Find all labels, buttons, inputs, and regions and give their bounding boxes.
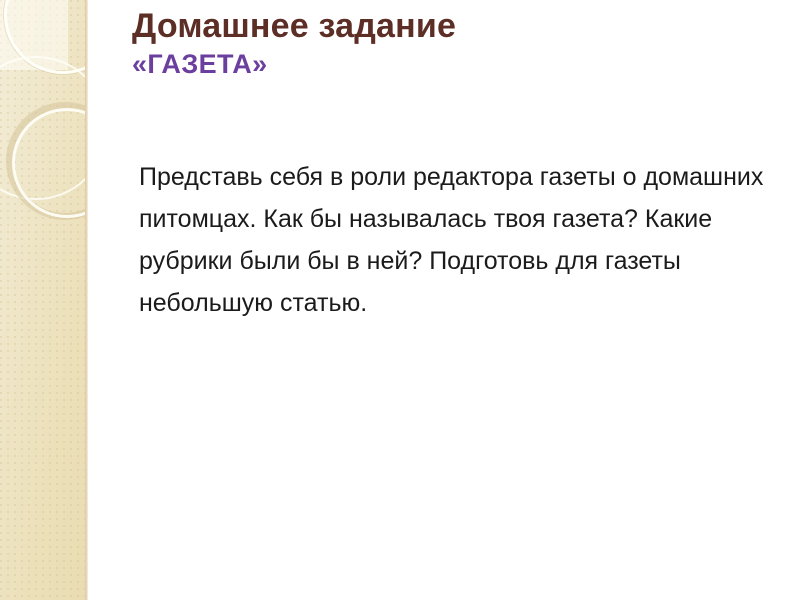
assignment-body-text: Представь себя в роли редактора газеты о…	[139, 156, 784, 324]
picture-strip: www.photo.ru Юный натуралист С Новым год…	[0, 405, 800, 600]
page-title: Домашнее задание	[132, 6, 772, 46]
page-subtitle: «ГАЗЕТА»	[132, 48, 772, 80]
title-block: Домашнее задание «ГАЗЕТА»	[132, 6, 772, 80]
slide: Домашнее задание «ГАЗЕТА» Представь себя…	[0, 0, 800, 600]
